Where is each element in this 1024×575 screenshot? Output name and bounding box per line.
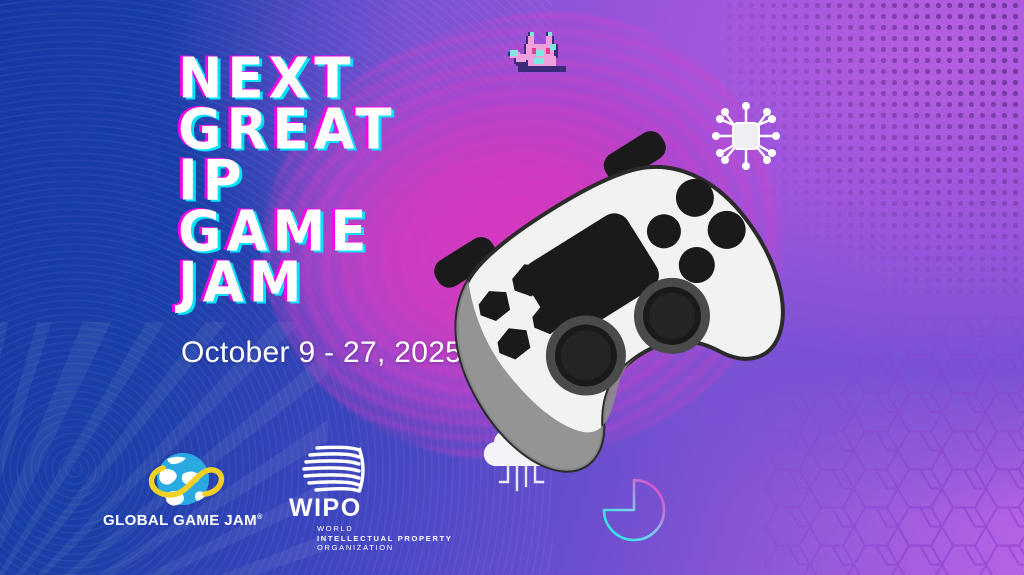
wipo-subtitle-line-1: WORLD: [317, 524, 453, 534]
wipo-globe-stripes-icon: [297, 444, 381, 498]
global-game-jam-logo: GLOBAL GAME JAM®: [103, 448, 261, 540]
poster-canvas: NEXT GREAT IP GAME JAM October 9 - 27, 2…: [0, 0, 1024, 575]
ggj-wordmark-text: GLOBAL GAME JAM: [103, 512, 257, 529]
game-controller-icon: [406, 128, 836, 518]
wipo-subtitle-line-2: INTELLECTUAL PROPERTY: [317, 534, 453, 544]
poster-title: NEXT GREAT IP GAME JAM: [178, 52, 397, 307]
wipo-subtitle: WORLD INTELLECTUAL PROPERTY ORGANIZATION: [317, 524, 453, 553]
pixel-cat-icon: [508, 26, 580, 92]
globe-infinity-icon: [139, 448, 227, 510]
ggj-trademark: ®: [257, 514, 263, 521]
wipo-subtitle-line-3: ORGANIZATION: [317, 543, 453, 553]
wipo-logo: WIPO WORLD INTELLECTUAL PROPERTY ORGANIZ…: [283, 444, 453, 540]
global-game-jam-wordmark: GLOBAL GAME JAM®: [103, 512, 261, 529]
wipo-acronym: WIPO: [289, 496, 362, 521]
title-line-5: JAM: [178, 256, 397, 310]
